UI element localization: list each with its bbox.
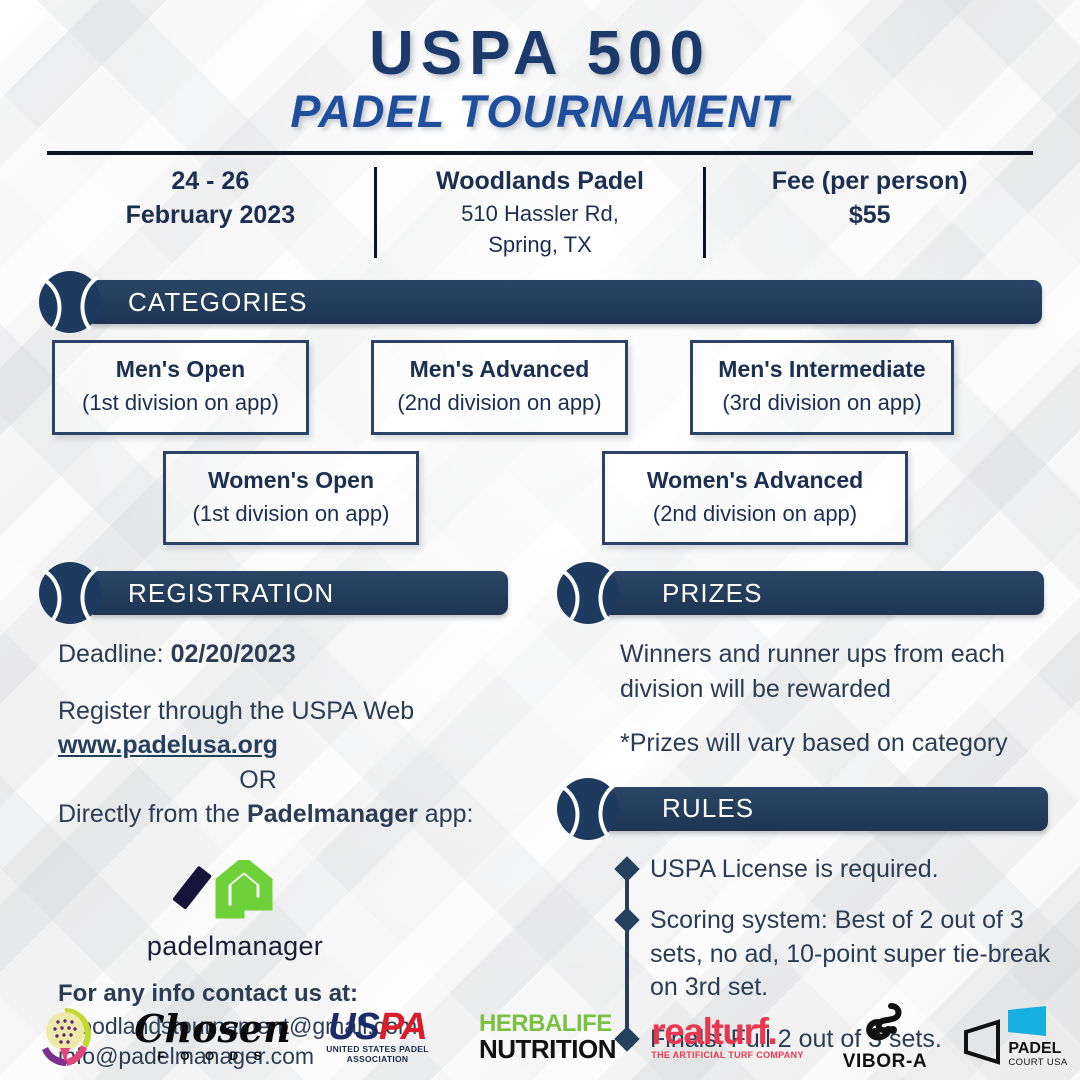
padelmanager-mark-icon — [170, 860, 300, 922]
category-card[interactable]: Men's Open (1st division on app) — [52, 340, 309, 435]
padelmanager-wordmark: padelmanager — [0, 931, 470, 962]
categories-row-womens: Women's Open (1st division on app) Women… — [163, 451, 1040, 546]
category-name: Men's Open — [65, 355, 296, 385]
venue-name: Woodlands Padel — [385, 167, 696, 197]
registration-link-row: www.padelusa.org — [58, 728, 540, 763]
date-days: 24 - 26 — [55, 167, 366, 197]
registration-title: REGISTRATION — [128, 578, 334, 609]
prizes-title: PRIZES — [662, 578, 763, 609]
registration-app-line: Directly from the Padelmanager app: — [58, 797, 540, 832]
rule-text: Scoring system: Best of 2 out of 3 sets,… — [650, 906, 1050, 1001]
category-division: (2nd division on app) — [384, 388, 615, 418]
diamond-bullet-icon — [614, 908, 639, 933]
venue-address-line2: Spring, TX — [385, 232, 696, 258]
fee-label: Fee (per person) — [714, 167, 1025, 197]
registration-or: OR — [58, 763, 458, 798]
title-block: USPA 500 PADEL TOURNAMENT — [0, 0, 1080, 137]
rules-bar: RULES — [602, 787, 1048, 831]
category-card[interactable]: Men's Intermediate (3rd division on app) — [690, 340, 954, 435]
app-line-suffix: app: — [418, 800, 474, 828]
padelmanager-logo: padelmanager — [0, 860, 470, 962]
registration-body: Deadline: 02/20/2023 Register through th… — [58, 637, 540, 832]
uspa-wordmark: USPA — [295, 1010, 460, 1044]
info-fee: Fee (per person) $55 — [706, 167, 1033, 258]
categories-bar: CATEGORIES — [86, 280, 1042, 324]
registration-deadline: Deadline: 02/20/2023 — [58, 637, 540, 672]
sponsor-herbalife-logo: HERBALIFE NUTRITION — [460, 994, 635, 1080]
prizes-body: Winners and runner ups from each divisio… — [620, 637, 1044, 761]
prizes-line1: Winners and runner ups from each — [620, 637, 1044, 672]
tennis-ball-icon — [38, 270, 102, 334]
prizes-note: *Prizes will vary based on category — [620, 726, 1044, 761]
vibora-snake-icon — [858, 1002, 912, 1046]
category-division: (3rd division on app) — [703, 388, 941, 418]
chosen-wordmark: Chosen — [134, 1011, 290, 1047]
sponsor-vibora-logo: VIBOR-A — [820, 994, 950, 1080]
sponsor-chosen-foods-logo: Chosen F O O D S — [130, 994, 295, 1080]
chosen-subtext: F O O D S — [134, 1049, 290, 1063]
deadline-value: 02/20/2023 — [171, 640, 296, 668]
category-name: Women's Open — [176, 466, 406, 496]
vibora-wordmark: VIBOR-A — [843, 1051, 927, 1073]
prizes-bar: PRIZES — [602, 571, 1044, 615]
sponsor-uspa-logo: USPA UNITED STATES PADEL ASSOCIATION — [295, 994, 460, 1080]
category-card[interactable]: Women's Advanced (2nd division on app) — [602, 451, 908, 546]
sponsor-padel-court-usa-logo: PADEL COURT USA — [950, 994, 1080, 1080]
categories-title: CATEGORIES — [128, 287, 308, 318]
info-venue: Woodlands Padel 510 Hassler Rd, Spring, … — [374, 167, 707, 258]
app-line-prefix: Directly from the — [58, 800, 247, 828]
sponsor-bar: Chosen F O O D S USPA UNITED STATES PADE… — [0, 994, 1080, 1080]
rules-section-header: RULES — [550, 787, 1048, 831]
info-date: 24 - 26 February 2023 — [47, 167, 374, 258]
venue-address-line1: 510 Hassler Rd, — [385, 201, 696, 227]
page-subtitle: PADEL TOURNAMENT — [0, 87, 1080, 137]
prizes-section-header: PRIZES — [550, 571, 1044, 615]
herbalife-wordmark: HERBALIFE — [479, 1012, 616, 1036]
diamond-bullet-icon — [614, 856, 639, 881]
fee-value: $55 — [714, 201, 1025, 231]
realturf-wordmark: realturf. — [651, 1014, 803, 1049]
rules-title: RULES — [662, 793, 754, 824]
woodlands-padel-icon — [28, 1000, 102, 1074]
sponsor-woodlands-padel-logo — [0, 994, 130, 1080]
event-info-bar: 24 - 26 February 2023 Woodlands Padel 51… — [47, 151, 1033, 258]
page-title: USPA 500 — [0, 22, 1080, 85]
category-division: (1st division on app) — [65, 388, 296, 418]
category-card[interactable]: Women's Open (1st division on app) — [163, 451, 419, 546]
rule-item: Scoring system: Best of 2 out of 3 sets,… — [618, 904, 1060, 1005]
padelusa-link[interactable]: www.padelusa.org — [58, 728, 278, 763]
uspa-subtext: UNITED STATES PADEL ASSOCIATION — [295, 1044, 460, 1064]
registration-web-line: Register through the USPA Web — [58, 694, 540, 729]
category-card[interactable]: Men's Advanced (2nd division on app) — [371, 340, 628, 435]
categories-row-mens: Men's Open (1st division on app) Men's A… — [52, 340, 1040, 435]
category-name: Women's Advanced — [615, 466, 895, 496]
flyer-canvas: USPA 500 PADEL TOURNAMENT 24 - 26 Februa… — [0, 0, 1080, 1080]
tennis-ball-icon — [38, 561, 102, 625]
rule-text: USPA License is required. — [650, 855, 939, 883]
registration-section-header: REGISTRATION — [52, 571, 508, 615]
herbalife-subtext: NUTRITION — [479, 1036, 616, 1062]
padelcourt-wordmark: PADEL — [1008, 1041, 1067, 1057]
sponsor-realturf-logo: realturf. THE ARTIFICIAL TURF COMPANY — [635, 994, 820, 1080]
tennis-ball-icon — [556, 777, 620, 841]
app-name: Padelmanager — [247, 800, 418, 828]
padel-court-blue-panel-icon — [1008, 1006, 1048, 1036]
registration-bar: REGISTRATION — [86, 571, 508, 615]
category-division: (1st division on app) — [176, 499, 406, 529]
categories-section-header: CATEGORIES — [52, 280, 1042, 324]
padelcourt-subtext: COURT USA — [1008, 1057, 1067, 1068]
category-name: Men's Advanced — [384, 355, 615, 385]
date-month-year: February 2023 — [55, 201, 366, 231]
category-division: (2nd division on app) — [615, 499, 895, 529]
tennis-ball-icon — [556, 561, 620, 625]
realturf-subtext: THE ARTIFICIAL TURF COMPANY — [651, 1050, 803, 1060]
rule-item: USPA License is required. — [618, 853, 1060, 887]
deadline-label: Deadline: — [58, 640, 171, 668]
category-name: Men's Intermediate — [703, 355, 941, 385]
padel-court-icon — [962, 1016, 1014, 1068]
prizes-line2: division will be rewarded — [620, 672, 1044, 707]
